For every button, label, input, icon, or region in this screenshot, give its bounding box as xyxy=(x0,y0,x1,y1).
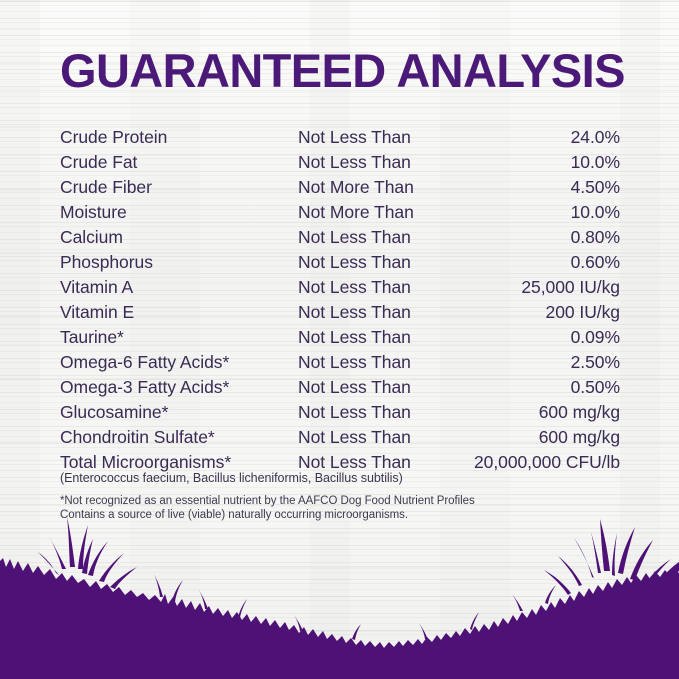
qualifier-label: Not Less Than xyxy=(298,375,473,400)
guaranteed-analysis-table: Crude Protein Not Less Than 24.0% Crude … xyxy=(60,125,620,475)
aafco-disclaimer-line-1: *Not recognized as an essential nutrient… xyxy=(60,494,475,508)
nutrient-label: Calcium xyxy=(60,225,298,250)
nutrient-label: Crude Protein xyxy=(60,125,298,150)
nutrient-label: Glucosamine* xyxy=(60,400,298,425)
nutrient-label: Moisture xyxy=(60,200,298,225)
nutrient-label: Phosphorus xyxy=(60,250,298,275)
table-row: Vitamin A Not Less Than 25,000 IU/kg xyxy=(60,275,620,300)
table-row: Phosphorus Not Less Than 0.60% xyxy=(60,250,620,275)
nutrient-label: Chondroitin Sulfate* xyxy=(60,425,298,450)
nutrient-value: 200 IU/kg xyxy=(473,300,620,325)
nutrient-value: 10.0% xyxy=(473,150,620,175)
aafco-disclaimer-line-2: Contains a source of live (viable) natur… xyxy=(60,508,475,522)
qualifier-label: Not Less Than xyxy=(298,400,473,425)
table-row: Chondroitin Sulfate* Not Less Than 600 m… xyxy=(60,425,620,450)
nutrient-value: 0.09% xyxy=(473,325,620,350)
guaranteed-analysis-panel: GUARANTEED ANALYSIS Crude Protein Not Le… xyxy=(0,0,679,679)
nutrient-value: 24.0% xyxy=(473,125,620,150)
nutrient-value: 4.50% xyxy=(473,175,620,200)
nutrient-value: 2.50% xyxy=(473,350,620,375)
qualifier-label: Not Less Than xyxy=(298,225,473,250)
nutrient-label: Crude Fat xyxy=(60,150,298,175)
table-row: Calcium Not Less Than 0.80% xyxy=(60,225,620,250)
page-title: GUARANTEED ANALYSIS xyxy=(60,46,620,96)
nutrient-value: 25,000 IU/kg xyxy=(473,275,620,300)
table-row: Omega-6 Fatty Acids* Not Less Than 2.50% xyxy=(60,350,620,375)
nutrient-value: 20,000,000 CFU/lb xyxy=(473,450,620,475)
content-area: GUARANTEED ANALYSIS Crude Protein Not Le… xyxy=(0,0,679,679)
table-row: Crude Protein Not Less Than 24.0% xyxy=(60,125,620,150)
nutrient-label: Omega-6 Fatty Acids* xyxy=(60,350,298,375)
table-row: Moisture Not More Than 10.0% xyxy=(60,200,620,225)
qualifier-label: Not Less Than xyxy=(298,150,473,175)
probiotic-strains-note: (Enterococcus faecium, Bacillus lichenif… xyxy=(60,470,403,486)
qualifier-label: Not Less Than xyxy=(298,250,473,275)
table-row: Vitamin E Not Less Than 200 IU/kg xyxy=(60,300,620,325)
nutrient-label: Crude Fiber xyxy=(60,175,298,200)
nutrient-value: 600 mg/kg xyxy=(473,425,620,450)
table-row: Crude Fat Not Less Than 10.0% xyxy=(60,150,620,175)
table-row: Omega-3 Fatty Acids* Not Less Than 0.50% xyxy=(60,375,620,400)
qualifier-label: Not Less Than xyxy=(298,325,473,350)
table-row: Taurine* Not Less Than 0.09% xyxy=(60,325,620,350)
qualifier-label: Not More Than xyxy=(298,200,473,225)
aafco-disclaimer: *Not recognized as an essential nutrient… xyxy=(60,494,475,522)
nutrient-label: Vitamin E xyxy=(60,300,298,325)
nutrient-value: 0.80% xyxy=(473,225,620,250)
qualifier-label: Not Less Than xyxy=(298,275,473,300)
qualifier-label: Not Less Than xyxy=(298,300,473,325)
nutrient-value: 0.60% xyxy=(473,250,620,275)
nutrient-label: Omega-3 Fatty Acids* xyxy=(60,375,298,400)
nutrient-value: 10.0% xyxy=(473,200,620,225)
table-row: Glucosamine* Not Less Than 600 mg/kg xyxy=(60,400,620,425)
nutrient-label: Vitamin A xyxy=(60,275,298,300)
qualifier-label: Not Less Than xyxy=(298,425,473,450)
nutrient-value: 600 mg/kg xyxy=(473,400,620,425)
nutrient-label: Taurine* xyxy=(60,325,298,350)
qualifier-label: Not More Than xyxy=(298,175,473,200)
table-row: Crude Fiber Not More Than 4.50% xyxy=(60,175,620,200)
qualifier-label: Not Less Than xyxy=(298,125,473,150)
nutrient-value: 0.50% xyxy=(473,375,620,400)
qualifier-label: Not Less Than xyxy=(298,350,473,375)
table-body: Crude Protein Not Less Than 24.0% Crude … xyxy=(60,125,620,475)
